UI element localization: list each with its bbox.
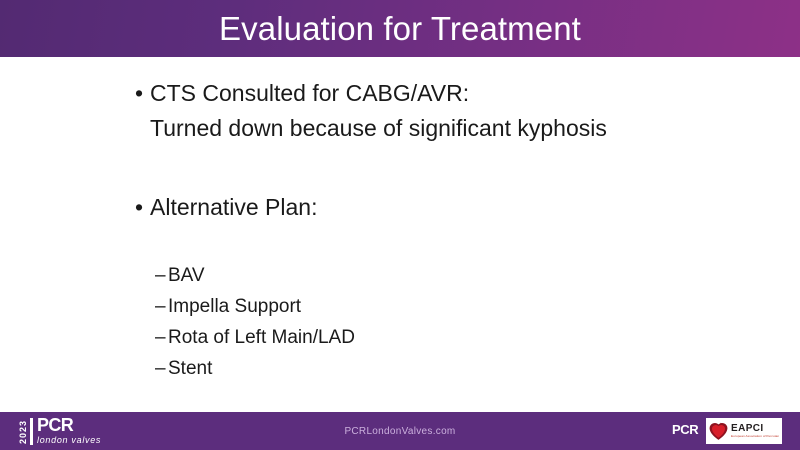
list-item-label: BAV bbox=[168, 266, 205, 285]
logo-divider bbox=[30, 418, 33, 445]
dash-marker-icon: – bbox=[155, 359, 168, 378]
dash-marker-icon: – bbox=[155, 297, 168, 316]
sub-bullet-list: – BAV – Impella Support – Rota of Left M… bbox=[155, 266, 355, 390]
bullet-item-2: • Alternative Plan: bbox=[135, 194, 317, 221]
bullet-item-1-continuation: Turned down because of significant kypho… bbox=[150, 115, 607, 142]
list-item-label: Rota of Left Main/LAD bbox=[168, 328, 355, 347]
list-item-label: Stent bbox=[168, 359, 212, 378]
logo-subtitle-label: london valves bbox=[37, 436, 101, 446]
eapci-logo: EAPCI European Association of Percutaneo… bbox=[706, 418, 782, 444]
slide: Evaluation for Treatment • CTS Consulted… bbox=[0, 0, 800, 450]
logo-brand-label: PCR bbox=[37, 417, 101, 434]
slide-body: • CTS Consulted for CABG/AVR: Turned dow… bbox=[0, 57, 800, 412]
bullet-marker-icon: • bbox=[135, 80, 150, 107]
pcr-london-valves-logo: 2023 PCR london valves bbox=[18, 418, 101, 445]
eapci-name-label: EAPCI bbox=[731, 424, 779, 435]
list-item-label: Impella Support bbox=[168, 297, 301, 316]
list-item: – Stent bbox=[155, 359, 355, 378]
logo-year-label: 2023 bbox=[18, 418, 28, 445]
page-title: Evaluation for Treatment bbox=[219, 12, 581, 45]
slide-title-bar: Evaluation for Treatment bbox=[0, 0, 800, 57]
pcr-mark-label: PCR bbox=[672, 423, 698, 436]
heart-icon bbox=[709, 422, 728, 441]
bullet-item-1-label: CTS Consulted for CABG/AVR: bbox=[150, 80, 469, 107]
eapci-subtitle-label: European Association of Percutaneous Car… bbox=[731, 435, 779, 439]
bullet-item-2-label: Alternative Plan: bbox=[150, 194, 317, 221]
list-item: – Impella Support bbox=[155, 297, 355, 316]
eapci-text-block: EAPCI European Association of Percutaneo… bbox=[731, 424, 779, 439]
list-item: – BAV bbox=[155, 266, 355, 285]
dash-marker-icon: – bbox=[155, 266, 168, 285]
bullet-item-1: • CTS Consulted for CABG/AVR: bbox=[135, 80, 469, 107]
list-item: – Rota of Left Main/LAD bbox=[155, 328, 355, 347]
bullet-marker-icon: • bbox=[135, 194, 150, 221]
logo-wordmark: PCR london valves bbox=[37, 418, 101, 445]
dash-marker-icon: – bbox=[155, 328, 168, 347]
